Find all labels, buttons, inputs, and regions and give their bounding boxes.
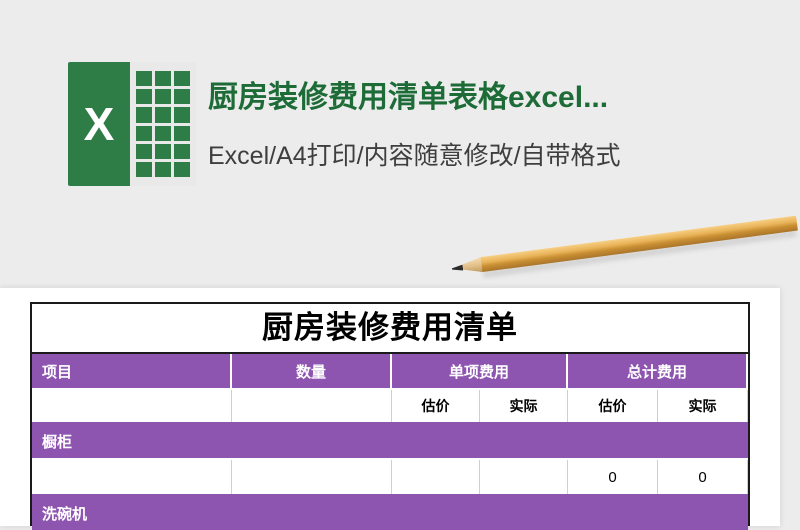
cell-total-estimate: 0 <box>568 460 658 494</box>
grid-cell <box>136 107 152 122</box>
grid-cell <box>174 126 190 141</box>
grid-cell <box>155 71 171 86</box>
grid-cell <box>174 89 190 104</box>
cell-unit-estimate <box>392 460 480 494</box>
subheader-cell-total-actual: 实际 <box>658 390 748 422</box>
grid-cell <box>174 107 190 122</box>
page-title: 厨房装修费用清单表格excel... <box>208 72 768 116</box>
group-label-dishwasher: 洗碗机 <box>32 496 748 530</box>
spreadsheet-table: 厨房装修费用清单 项目 数量 单项费用 总计费用 估价 实际 估价 实际 橱柜 <box>30 302 750 526</box>
header-cell-item: 项目 <box>32 354 232 388</box>
spreadsheet-grid-icon <box>136 71 190 177</box>
subheader-cell-unit-estimate: 估价 <box>392 390 480 422</box>
grid-cell <box>155 107 171 122</box>
grid-cell <box>136 144 152 159</box>
excel-logo-letter: X <box>68 62 130 186</box>
header-cell-unit-cost: 单项费用 <box>392 354 568 388</box>
group-label-cabinets: 橱柜 <box>32 424 748 458</box>
subheader-cell-item-blank <box>32 390 232 422</box>
cell-quantity <box>232 460 392 494</box>
page-root: X <box>0 0 800 526</box>
grid-cell <box>155 144 171 159</box>
grid-cell <box>136 126 152 141</box>
excel-logo: X <box>68 62 196 186</box>
page-subtitle: Excel/A4打印/内容随意修改/自带格式 <box>208 136 778 172</box>
subheader-cell-unit-actual: 实际 <box>480 390 568 422</box>
grid-cell <box>155 89 171 104</box>
cell-total-actual: 0 <box>658 460 748 494</box>
header-cell-total-cost: 总计费用 <box>568 354 748 388</box>
grid-cell <box>155 126 171 141</box>
grid-cell <box>136 162 152 177</box>
subheader-cell-total-estimate: 估价 <box>568 390 658 422</box>
table-row: 0 0 <box>32 460 748 496</box>
table-group-row: 橱柜 <box>32 424 748 460</box>
grid-cell <box>136 71 152 86</box>
table-subheader-row: 估价 实际 估价 实际 <box>32 390 748 424</box>
grid-cell <box>174 144 190 159</box>
table-header-row: 项目 数量 单项费用 总计费用 <box>32 354 748 390</box>
excel-logo-grid-panel <box>130 62 196 186</box>
cell-item <box>32 460 232 494</box>
grid-cell <box>174 71 190 86</box>
grid-cell <box>136 89 152 104</box>
grid-cell <box>174 162 190 177</box>
table-group-row: 洗碗机 <box>32 496 748 530</box>
header-cell-quantity: 数量 <box>232 354 392 388</box>
subheader-cell-quantity-blank <box>232 390 392 422</box>
spreadsheet-preview-card: 厨房装修费用清单 项目 数量 单项费用 总计费用 估价 实际 估价 实际 橱柜 <box>0 288 780 526</box>
document-title: 厨房装修费用清单 <box>32 304 748 354</box>
grid-cell <box>155 162 171 177</box>
pencil-graphite-tip <box>452 265 464 272</box>
cell-unit-actual <box>480 460 568 494</box>
